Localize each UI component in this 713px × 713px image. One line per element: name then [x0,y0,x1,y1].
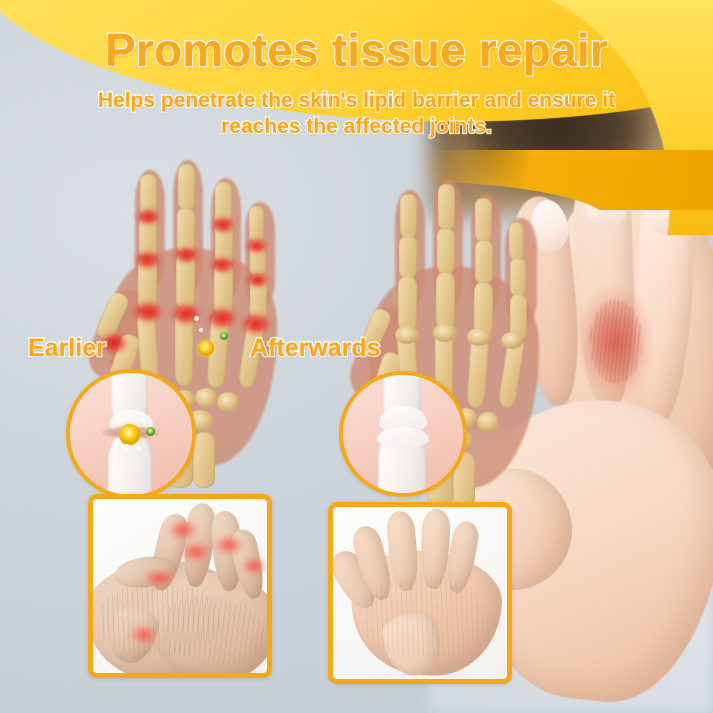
before-label: Earlier [28,334,106,363]
pain-marker [127,623,161,647]
before-photo-card [88,494,272,678]
promo-poster: Earlier Afterwards [0,0,713,713]
pain-marker [239,555,269,577]
before-joint-inset [66,369,196,499]
crystal-deposit-icon [119,424,140,445]
pain-marker [139,567,179,589]
subtitle-line-2: reaches the affected joints. [221,115,492,138]
header-banner: Promotes tissue repair Helps penetrate t… [0,0,713,235]
pain-marker [177,539,215,565]
page-subtitle: Helps penetrate the skin's lipid barrier… [0,88,713,139]
after-photo-card [328,502,512,684]
subtitle-line-1: Helps penetrate the skin's lipid barrier… [98,89,615,112]
background-inflammation-texture [590,300,642,384]
pain-marker [211,533,247,557]
after-joint-inset [339,371,467,497]
header-gold-band [430,150,713,210]
page-title: Promotes tissue repair [0,26,713,75]
after-label: Afterwards [250,334,381,363]
